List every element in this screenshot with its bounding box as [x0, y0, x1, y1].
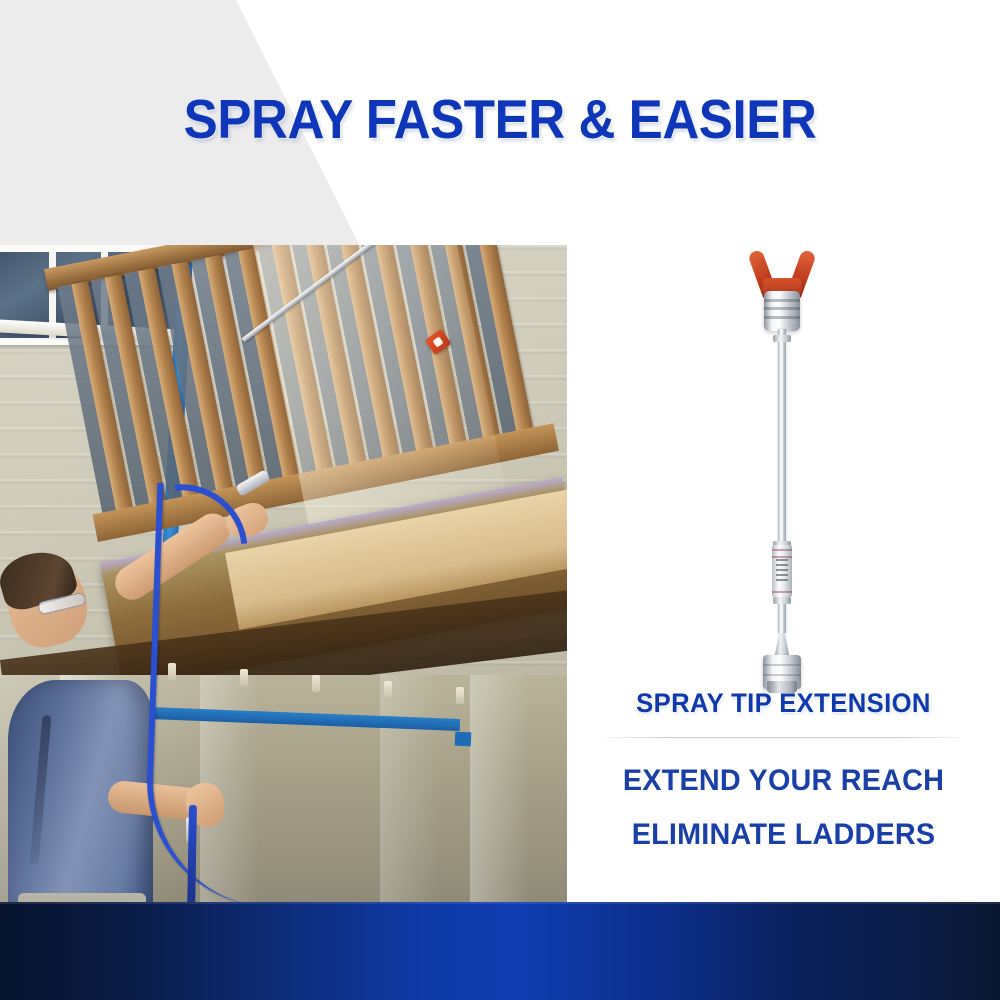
fastener: [312, 675, 320, 692]
callout-title: SPRAY TIP EXTENSION: [578, 690, 989, 717]
tip-housing: [764, 291, 800, 331]
bottom-accent-bar: [0, 902, 1000, 1000]
product-image-spray-tip-extension: [567, 245, 1000, 685]
lifestyle-photo: [0, 245, 567, 903]
rod-collar: [773, 597, 791, 604]
fastener: [456, 687, 464, 704]
callout-benefit-2: ELIMINATE LADDERS: [576, 820, 992, 850]
callout-benefit-1: EXTEND YOUR REACH: [576, 766, 992, 796]
painters-tape-tab: [455, 732, 472, 747]
page-title: SPRAY FASTER & EASIER: [35, 92, 965, 147]
bar-highlight-line: [0, 902, 1000, 904]
product-callout: SPRAY TIP EXTENSION EXTEND YOUR REACH EL…: [567, 690, 1000, 850]
product-label-band: [772, 545, 792, 597]
rod-collar: [773, 335, 791, 342]
marketing-banner: SPRAY FASTER & EASIER: [0, 0, 1000, 1000]
paint-hose: [143, 483, 284, 903]
callout-divider: [606, 737, 961, 738]
paint-hose-lower: [187, 805, 197, 903]
fastener: [384, 681, 392, 698]
